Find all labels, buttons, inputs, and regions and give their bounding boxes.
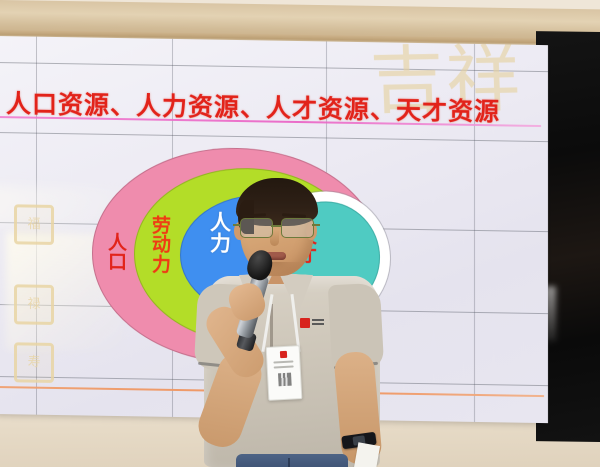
name-badge xyxy=(266,345,303,401)
diagram-label-labor-force: 劳 动 力 xyxy=(152,217,171,275)
badge-qr-code-icon xyxy=(278,373,292,387)
held-paper xyxy=(354,442,380,467)
nose xyxy=(270,230,279,246)
glasses-temple-left xyxy=(233,224,241,226)
diagram-label-population: 人 口 xyxy=(108,234,127,273)
badge-text-line xyxy=(274,365,294,368)
glasses-temple-right xyxy=(312,224,320,226)
chest-logo-text xyxy=(312,319,324,327)
glasses-bridge xyxy=(271,225,281,227)
glasses-lens-left xyxy=(240,218,273,238)
screen-seam xyxy=(0,62,548,72)
jeans xyxy=(236,454,348,467)
watermark-seal-text: 寿 xyxy=(28,356,41,369)
chest-logo-mark-icon xyxy=(300,318,310,328)
glasses-lens-right xyxy=(281,218,314,238)
presentation-photo: 吉祥 福 禄 寿 人口资源、人力资源、人才资源、天才资源 人 口 xyxy=(0,0,600,467)
chest-logo xyxy=(300,316,324,329)
badge-logo-icon xyxy=(279,351,286,358)
shirt-placket xyxy=(270,304,273,350)
speaker xyxy=(196,176,386,467)
badge-text-line xyxy=(273,360,293,363)
